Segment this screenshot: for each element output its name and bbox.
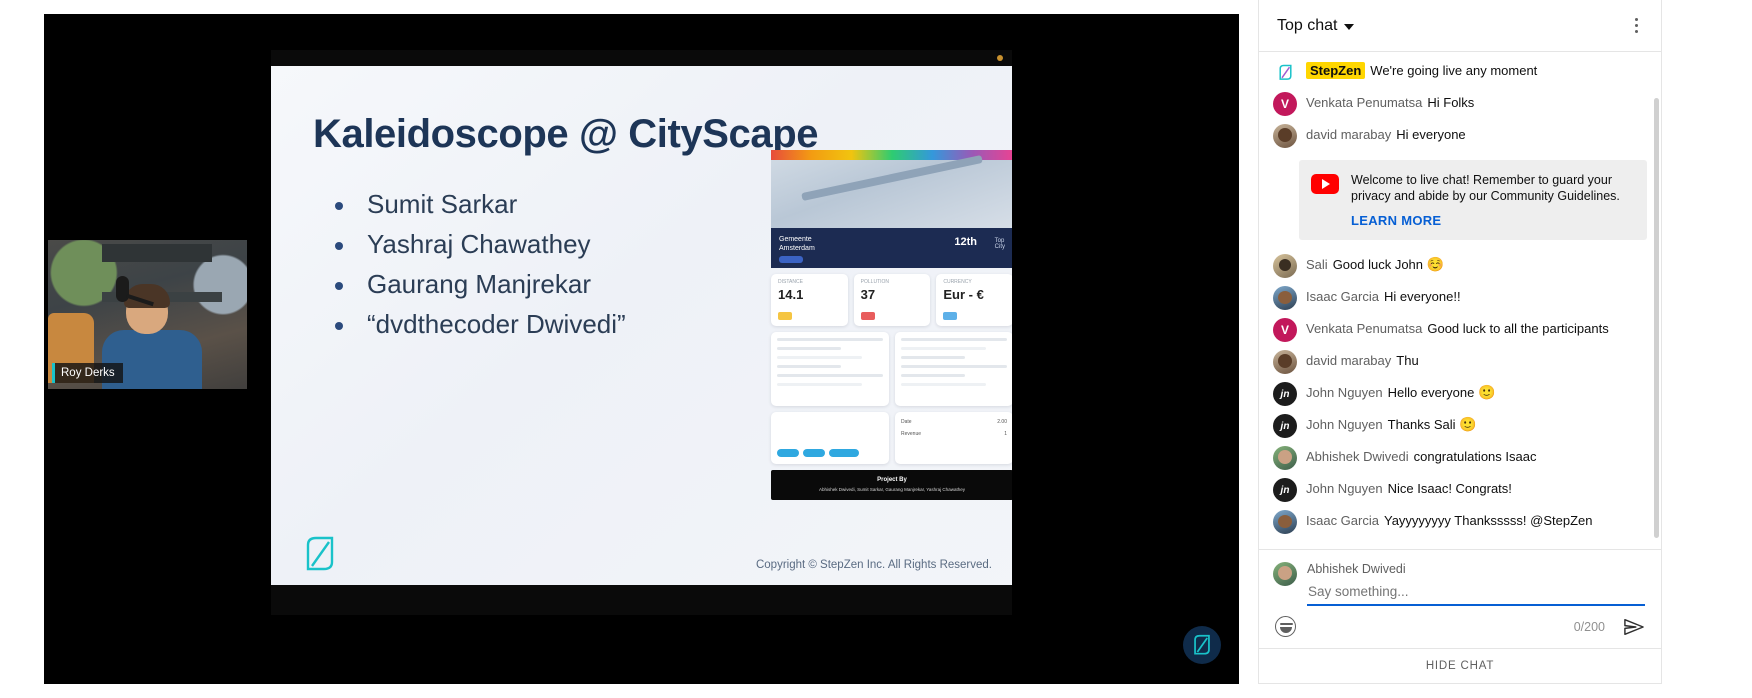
chat-message-body: StepZenWe're going live any moment	[1306, 60, 1537, 79]
webcam-shelf	[102, 244, 212, 262]
chat-message: V Venkata PenumatsaHi Folks	[1259, 88, 1661, 120]
chat-author: Abhishek Dwivedi	[1306, 449, 1409, 464]
chat-message: david marabayThu	[1259, 346, 1661, 378]
chat-message-body: Isaac GarciaHi everyone!!	[1306, 286, 1461, 305]
chat-message-text: Nice Isaac! Congrats!	[1388, 481, 1512, 496]
avatar	[1273, 254, 1297, 278]
chat-author: Sali	[1306, 257, 1328, 272]
chat-message-text: Hi everyone	[1396, 127, 1465, 142]
mock-city-label: GemeenteAmsterdam	[779, 235, 815, 254]
avatar	[1273, 124, 1297, 148]
avatar-initial: jn	[1281, 418, 1290, 435]
emoji-smiley-icon[interactable]	[1275, 616, 1296, 637]
mock-line	[777, 347, 841, 350]
presentation-slide: Kaleidoscope @ CityScape Sumit Sarkar Ya…	[271, 50, 1012, 615]
chat-author: david marabay	[1306, 127, 1391, 142]
welcome-card-text: Welcome to live chat! Remember to guard …	[1351, 172, 1633, 204]
mock-line	[777, 356, 862, 359]
character-counter: 0/200	[1574, 620, 1605, 634]
youtube-live-page: Kaleidoscope @ CityScape Sumit Sarkar Ya…	[0, 0, 1752, 698]
mock-line	[901, 365, 1007, 368]
mock-chip	[943, 312, 957, 320]
learn-more-link[interactable]: LEARN MORE	[1351, 213, 1633, 228]
mock-button-group	[777, 449, 859, 457]
live-chat-welcome-card: Welcome to live chat! Remember to guard …	[1299, 160, 1647, 240]
mock-line	[901, 374, 965, 377]
avatar	[1273, 562, 1297, 586]
chat-message-body: Abhishek Dwivedicongratulations Isaac	[1306, 446, 1536, 465]
mock-card-grid: DISTANCE 14.1 POLLUTION 37 CURRENCY	[771, 274, 1012, 500]
chevron-down-icon	[1344, 24, 1354, 30]
mock-summary-value: 2.00	[997, 419, 1007, 425]
chat-message: SaliGood luck John ☺️	[1259, 250, 1661, 282]
mock-chip	[778, 312, 792, 320]
video-player-container[interactable]: Kaleidoscope @ CityScape Sumit Sarkar Ya…	[44, 14, 1239, 684]
chat-message-text: congratulations Isaac	[1414, 449, 1537, 464]
chat-message-text: Thu	[1396, 353, 1418, 368]
mock-chip	[861, 312, 875, 320]
avatar-initial: jn	[1281, 386, 1290, 403]
mock-line	[901, 356, 965, 359]
avatar	[1273, 350, 1297, 374]
chat-message-text: We're going live any moment	[1370, 63, 1537, 78]
chat-author: John Nguyen	[1306, 481, 1383, 496]
chat-mode-selector[interactable]: Top chat	[1277, 17, 1354, 35]
chat-author: Venkata Penumatsa	[1306, 321, 1422, 336]
mock-metric-card: POLLUTION 37	[854, 274, 931, 326]
mock-list-card	[895, 332, 1012, 406]
chat-message-body: John NguyenHello everyone 🙂	[1306, 382, 1495, 401]
mock-metric-card: DISTANCE 14.1	[771, 274, 848, 326]
avatar-initial: jn	[1281, 482, 1290, 499]
avatar-initial: V	[1281, 96, 1289, 113]
mock-line	[777, 365, 841, 368]
chat-input-toolbar: 0/200	[1259, 606, 1661, 648]
chat-scrollbar[interactable]	[1654, 98, 1659, 538]
avatar: V	[1273, 318, 1297, 342]
chat-message-text: Hello everyone	[1388, 385, 1475, 400]
slide-bullet: “dvdthecoder Dwivedi”	[325, 310, 626, 340]
mock-row	[771, 332, 1012, 406]
chat-message-body: Venkata PenumatsaGood luck to all the pa…	[1306, 318, 1609, 337]
chat-header: Top chat	[1259, 0, 1661, 52]
mock-map-image	[771, 160, 1012, 228]
chat-message: david marabayHi everyone	[1259, 120, 1661, 152]
avatar-initial: V	[1281, 322, 1289, 339]
chat-input-row: Abhishek Dwivedi	[1259, 550, 1661, 606]
mock-footer: Project By Abhishek Dwivedi, Sumit Sarka…	[771, 470, 1012, 500]
chat-message-body: david marabayHi everyone	[1306, 124, 1466, 143]
slide-dashboard-mockup: GemeenteAmsterdam 12th TopCity DISTANCE …	[771, 150, 1012, 505]
mock-footer-title: Project By	[771, 477, 1012, 483]
mock-line	[777, 374, 883, 377]
mock-navbar: GemeenteAmsterdam 12th TopCity	[771, 228, 1012, 268]
chat-message: V Venkata PenumatsaGood luck to all the …	[1259, 314, 1661, 346]
participant-name-label: Roy Derks	[52, 363, 123, 383]
avatar: jn	[1273, 382, 1297, 406]
mock-summary-card: Date 2.00 Revenue 1	[895, 412, 1012, 464]
avatar: jn	[1273, 478, 1297, 502]
mock-row: Date 2.00 Revenue 1	[771, 412, 1012, 464]
slide-bottom-bar	[271, 585, 1012, 615]
mock-footer-names: Abhishek Dwivedi, Sumit Sarkar, Gaurang …	[771, 487, 1012, 492]
chat-scroll-region[interactable]: StepZenWe're going live any moment V Ven…	[1259, 52, 1661, 549]
youtube-icon	[1311, 174, 1339, 194]
chat-message-body: Isaac GarciaYayyyyyyyy Thanksssss! @Step…	[1306, 510, 1593, 529]
mock-line	[901, 338, 1007, 341]
avatar: V	[1273, 92, 1297, 116]
avatar	[1273, 60, 1297, 84]
chat-message-body: SaliGood luck John ☺️	[1306, 254, 1444, 273]
chat-author: Isaac Garcia	[1306, 513, 1379, 528]
chat-mode-label: Top chat	[1277, 17, 1337, 35]
mock-metric-value: Eur - €	[943, 287, 983, 302]
chat-author: david marabay	[1306, 353, 1391, 368]
chat-message: Isaac GarciaHi everyone!!	[1259, 282, 1661, 314]
webcam-pip[interactable]: Roy Derks	[48, 240, 247, 389]
slide-bullet: Yashraj Chawathey	[325, 230, 626, 260]
mock-button	[803, 449, 825, 457]
chat-message-text: Hi everyone!!	[1384, 289, 1461, 304]
slide-copyright: Copyright © StepZen Inc. All Rights Rese…	[756, 559, 992, 571]
avatar: jn	[1273, 414, 1297, 438]
mock-metric-label: DISTANCE	[778, 279, 803, 285]
slide-bullet: Gaurang Manjrekar	[325, 270, 626, 300]
mock-rank-sub: TopCity	[995, 238, 1005, 250]
slide-bullet: Sumit Sarkar	[325, 190, 626, 220]
mock-nav-pill	[779, 256, 803, 263]
chat-message-body: david marabayThu	[1306, 350, 1419, 369]
chat-message: jn John NguyenNice Isaac! Congrats!	[1259, 474, 1661, 506]
chat-message: Abhishek Dwivedicongratulations Isaac	[1259, 442, 1661, 474]
mock-list-card	[771, 332, 889, 406]
mock-row: DISTANCE 14.1 POLLUTION 37 CURRENCY	[771, 274, 1012, 326]
mock-line	[901, 347, 986, 350]
welcome-card-body: Welcome to live chat! Remember to guard …	[1351, 172, 1633, 228]
avatar	[1273, 286, 1297, 310]
mock-button	[777, 449, 799, 457]
mock-metric-value: 14.1	[778, 287, 803, 302]
chat-author: John Nguyen	[1306, 385, 1383, 400]
chat-message-text: Hi Folks	[1427, 95, 1474, 110]
chat-input-area: Abhishek Dwivedi 0/200 HIDE CHAT	[1259, 549, 1661, 683]
slide-bullet-list: Sumit Sarkar Yashraj Chawathey Gaurang M…	[325, 190, 626, 350]
chat-input-fields: Abhishek Dwivedi	[1307, 562, 1645, 606]
chat-emoji: 🙂	[1459, 416, 1476, 432]
mock-metric-value: 37	[861, 287, 875, 302]
mock-line	[901, 383, 986, 386]
mock-line	[777, 383, 862, 386]
mock-summary-label: Revenue	[901, 431, 921, 437]
chat-message-input[interactable]	[1307, 582, 1645, 606]
chat-message: jn John NguyenHello everyone 🙂	[1259, 378, 1661, 410]
mock-button	[829, 449, 859, 457]
recording-dot-icon	[997, 55, 1003, 61]
kebab-menu-icon[interactable]	[1627, 17, 1645, 35]
chat-message: StepZenWe're going live any moment	[1259, 56, 1661, 88]
video-player[interactable]: Kaleidoscope @ CityScape Sumit Sarkar Ya…	[44, 14, 1239, 684]
chat-message-body: John NguyenNice Isaac! Congrats!	[1306, 478, 1512, 497]
chat-author: Isaac Garcia	[1306, 289, 1379, 304]
send-arrow-icon[interactable]	[1623, 617, 1645, 637]
mock-metric-card: CURRENCY Eur - €	[936, 274, 1012, 326]
mock-rank: 12th	[954, 236, 977, 248]
chat-emoji: ☺️	[1427, 256, 1444, 272]
mock-summary-label: Date	[901, 419, 912, 425]
chat-message-text: Yayyyyyyyy Thanksssss! @StepZen	[1384, 513, 1593, 528]
mock-metric-label: POLLUTION	[861, 279, 889, 285]
avatar	[1273, 510, 1297, 534]
stepzen-circle-badge-icon	[1183, 626, 1221, 664]
avatar	[1273, 446, 1297, 470]
chat-author-badge: StepZen	[1306, 62, 1365, 79]
chat-message: Isaac GarciaYayyyyyyyy Thanksssss! @Step…	[1259, 506, 1661, 538]
chat-message-text: Good luck to all the participants	[1427, 321, 1608, 336]
chat-input-username: Abhishek Dwivedi	[1307, 562, 1645, 576]
chat-emoji: 🙂	[1478, 384, 1495, 400]
live-chat-panel: Top chat StepZenWe're going live any mom…	[1258, 0, 1662, 684]
mock-action-card	[771, 412, 889, 464]
chat-author: Venkata Penumatsa	[1306, 95, 1422, 110]
slide-top-bar	[271, 50, 1012, 66]
chat-message-text: Thanks Sali	[1388, 417, 1456, 432]
chat-message-list[interactable]: StepZenWe're going live any moment V Ven…	[1259, 52, 1661, 549]
chat-message-text: Good luck John	[1333, 257, 1423, 272]
slide-title: Kaleidoscope @ CityScape	[313, 112, 818, 157]
hide-chat-button[interactable]: HIDE CHAT	[1259, 648, 1661, 683]
mock-line	[777, 338, 883, 341]
chat-author: John Nguyen	[1306, 417, 1383, 432]
mock-metric-label: CURRENCY	[943, 279, 971, 285]
chat-message-body: Venkata PenumatsaHi Folks	[1306, 92, 1474, 111]
chat-message: jn John NguyenThanks Sali 🙂	[1259, 410, 1661, 442]
chat-message-body: John NguyenThanks Sali 🙂	[1306, 414, 1477, 433]
mock-summary-value: 1	[1004, 431, 1007, 437]
stepzen-logo-icon	[303, 535, 337, 573]
